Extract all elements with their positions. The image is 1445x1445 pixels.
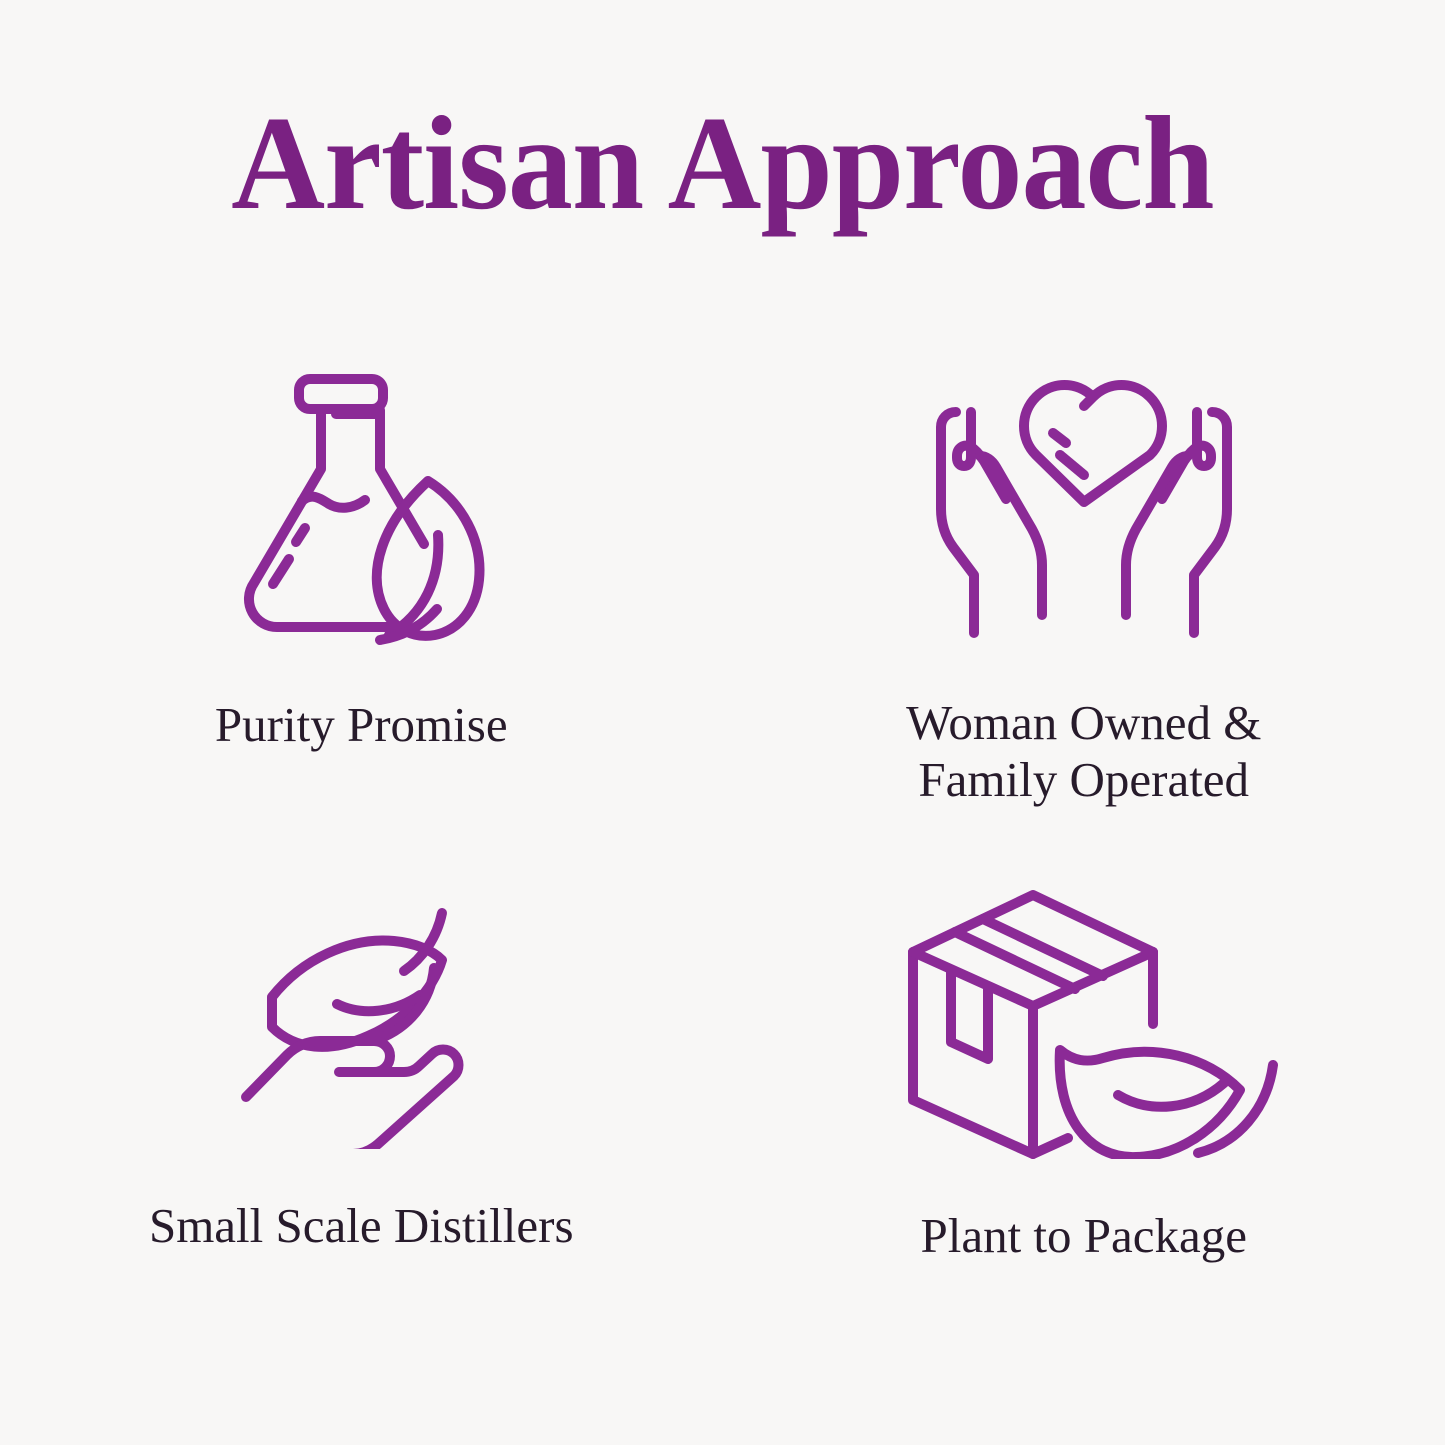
- benefit-item-purity-promise: Purity Promise: [0, 330, 723, 865]
- benefit-label: Small Scale Distillers: [149, 1197, 574, 1254]
- benefits-grid: Purity Promise: [0, 330, 1445, 1400]
- page-title: Artisan Approach: [231, 96, 1213, 230]
- benefit-item-woman-owned: Woman Owned & Family Operated: [723, 330, 1445, 865]
- benefit-label: Purity Promise: [215, 696, 508, 753]
- package-box-leaf-icon: [888, 887, 1280, 1159]
- benefit-label: Woman Owned & Family Operated: [906, 694, 1261, 809]
- benefit-item-plant-to-package: Plant to Package: [723, 865, 1445, 1400]
- benefit-label: Plant to Package: [920, 1207, 1247, 1264]
- hand-holding-leaf-icon: [236, 899, 486, 1149]
- artisan-approach-graphic: Artisan Approach: [0, 0, 1445, 1445]
- page-title-wrap: Artisan Approach: [0, 96, 1445, 230]
- benefit-item-small-scale-distillers: Small Scale Distillers: [0, 865, 723, 1400]
- hands-holding-heart-icon: [934, 374, 1234, 650]
- flask-leaf-icon: [232, 362, 490, 652]
